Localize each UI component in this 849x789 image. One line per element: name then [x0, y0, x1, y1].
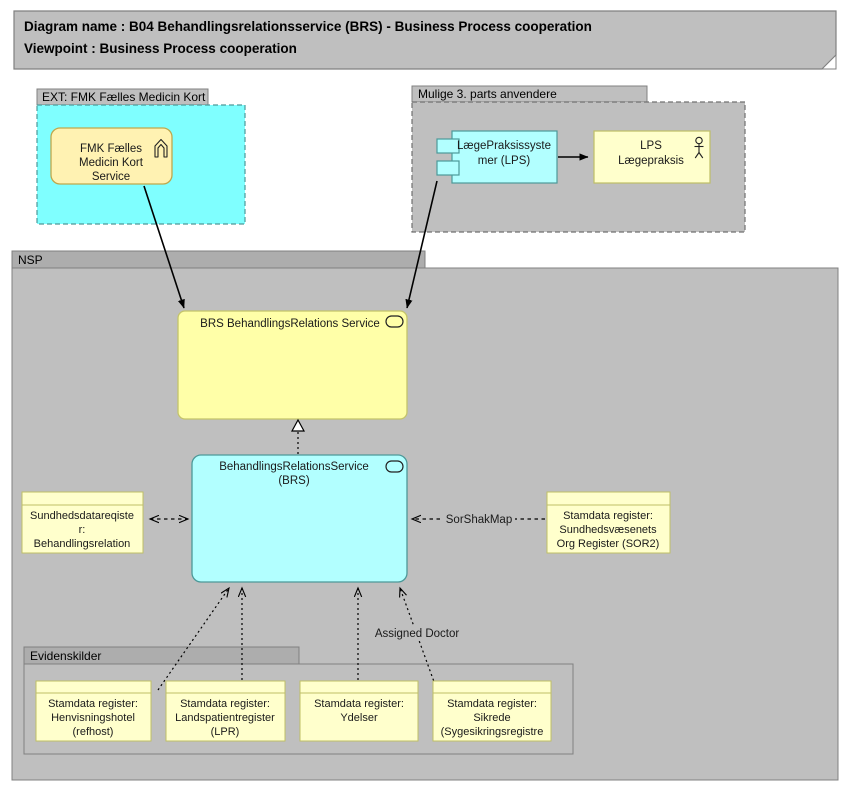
diagram-header-banner: Diagram name : B04 Behandlingsrelationss… — [14, 11, 836, 69]
node-lpr-line2: Landspatientregister — [175, 712, 275, 724]
node-lps-system[interactable]: LægePraksissyste mer (LPS) — [437, 131, 557, 183]
node-lps-system-line2: mer (LPS) — [478, 155, 531, 167]
node-sor2-line2: Sundhedsvæsenets — [559, 524, 657, 536]
interface-rounded-icon-component — [386, 461, 403, 472]
node-lps-system-line1: LægePraksissyste — [457, 140, 551, 152]
node-refhost-tab — [36, 681, 151, 693]
node-sikrede-line3: (Sygesikringsregistre — [441, 726, 544, 738]
node-sundhedsdataregister[interactable]: Sundhedsdatareqiste r: Behandlingsrelati… — [22, 492, 143, 553]
node-sundhedsdataregister-line2: r: — [79, 524, 86, 536]
group-ext-fmk-label: EXT: FMK Fælles Medicin Kort — [42, 90, 206, 104]
node-brs-component-line1: BehandlingsRelationsService — [219, 461, 369, 473]
node-sor2-tab — [547, 492, 670, 505]
node-ydelser-line2: Ydelser — [340, 712, 378, 724]
node-lps-actor-line2: Lægepraksis — [618, 155, 684, 167]
node-refhost-line1: Stamdata register: — [48, 698, 138, 710]
node-refhost-line3: (refhost) — [73, 726, 114, 738]
node-sundhedsdataregister-line3: Behandlingsrelation — [34, 538, 131, 550]
group-third-party-label: Mulige 3. parts anvendere — [418, 87, 557, 101]
diagram-canvas: Diagram name : B04 Behandlingsrelationss… — [0, 0, 849, 789]
node-ydelser-tab — [300, 681, 418, 693]
node-ydelser-line1: Stamdata register: — [314, 698, 404, 710]
node-sor2-line1: Stamdata register: — [563, 510, 653, 522]
edge-label-sorshakmap: SorShakMap — [446, 514, 512, 526]
node-sundhedsdataregister-tab — [22, 492, 143, 505]
node-lps-actor-line1: LPS — [640, 140, 662, 152]
node-refhost[interactable]: Stamdata register: Henvisningshotel (ref… — [36, 681, 151, 741]
header-line-viewpoint: Viewpoint : Business Process cooperation — [24, 41, 297, 56]
node-fmk-service-line1: FMK Fælles — [80, 143, 142, 155]
node-sor2-line3: Org Register (SOR2) — [557, 538, 660, 550]
node-brs-service-title: BRS BehandlingsRelations Service — [200, 318, 380, 330]
node-brs-component-line2: (BRS) — [278, 475, 309, 487]
interface-rounded-icon — [386, 316, 403, 327]
node-sikrede[interactable]: Stamdata register: Sikrede (Sygesikrings… — [433, 681, 551, 741]
node-fmk-service-line3: Service — [92, 171, 130, 183]
node-lpr[interactable]: Stamdata register: Landspatientregister … — [166, 681, 285, 741]
node-refhost-line2: Henvisningshotel — [51, 712, 135, 724]
node-sikrede-line2: Sikrede — [473, 712, 510, 724]
node-ydelser[interactable]: Stamdata register: Ydelser — [300, 681, 418, 741]
node-sikrede-line1: Stamdata register: — [447, 698, 537, 710]
group-nsp-tab — [12, 251, 425, 268]
node-lpr-line1: Stamdata register: — [180, 698, 270, 710]
node-lps-actor[interactable]: LPS Lægepraksis — [594, 131, 710, 183]
group-nsp-label: NSP — [18, 253, 43, 267]
diagram-root: Diagram name : B04 Behandlingsrelationss… — [0, 0, 849, 789]
edge-label-assigned-doctor: Assigned Doctor — [375, 628, 460, 640]
node-lpr-line3: (LPR) — [211, 726, 240, 738]
node-fmk-service-line2: Medicin Kort — [79, 157, 144, 169]
node-brs-component[interactable]: BehandlingsRelationsService (BRS) — [192, 455, 407, 582]
node-sundhedsdataregister-line1: Sundhedsdatareqiste — [30, 510, 134, 522]
group-evidenskilder-label: Evidenskilder — [30, 649, 101, 663]
header-line-diagram-name: Diagram name : B04 Behandlingsrelationss… — [24, 19, 592, 34]
node-sikrede-tab — [433, 681, 551, 693]
node-brs-service[interactable]: BRS BehandlingsRelations Service — [178, 311, 407, 419]
node-fmk-service[interactable]: FMK Fælles Medicin Kort Service — [51, 128, 172, 184]
node-sor2[interactable]: Stamdata register: Sundhedsvæsenets Org … — [547, 492, 670, 553]
node-lpr-tab — [166, 681, 285, 693]
